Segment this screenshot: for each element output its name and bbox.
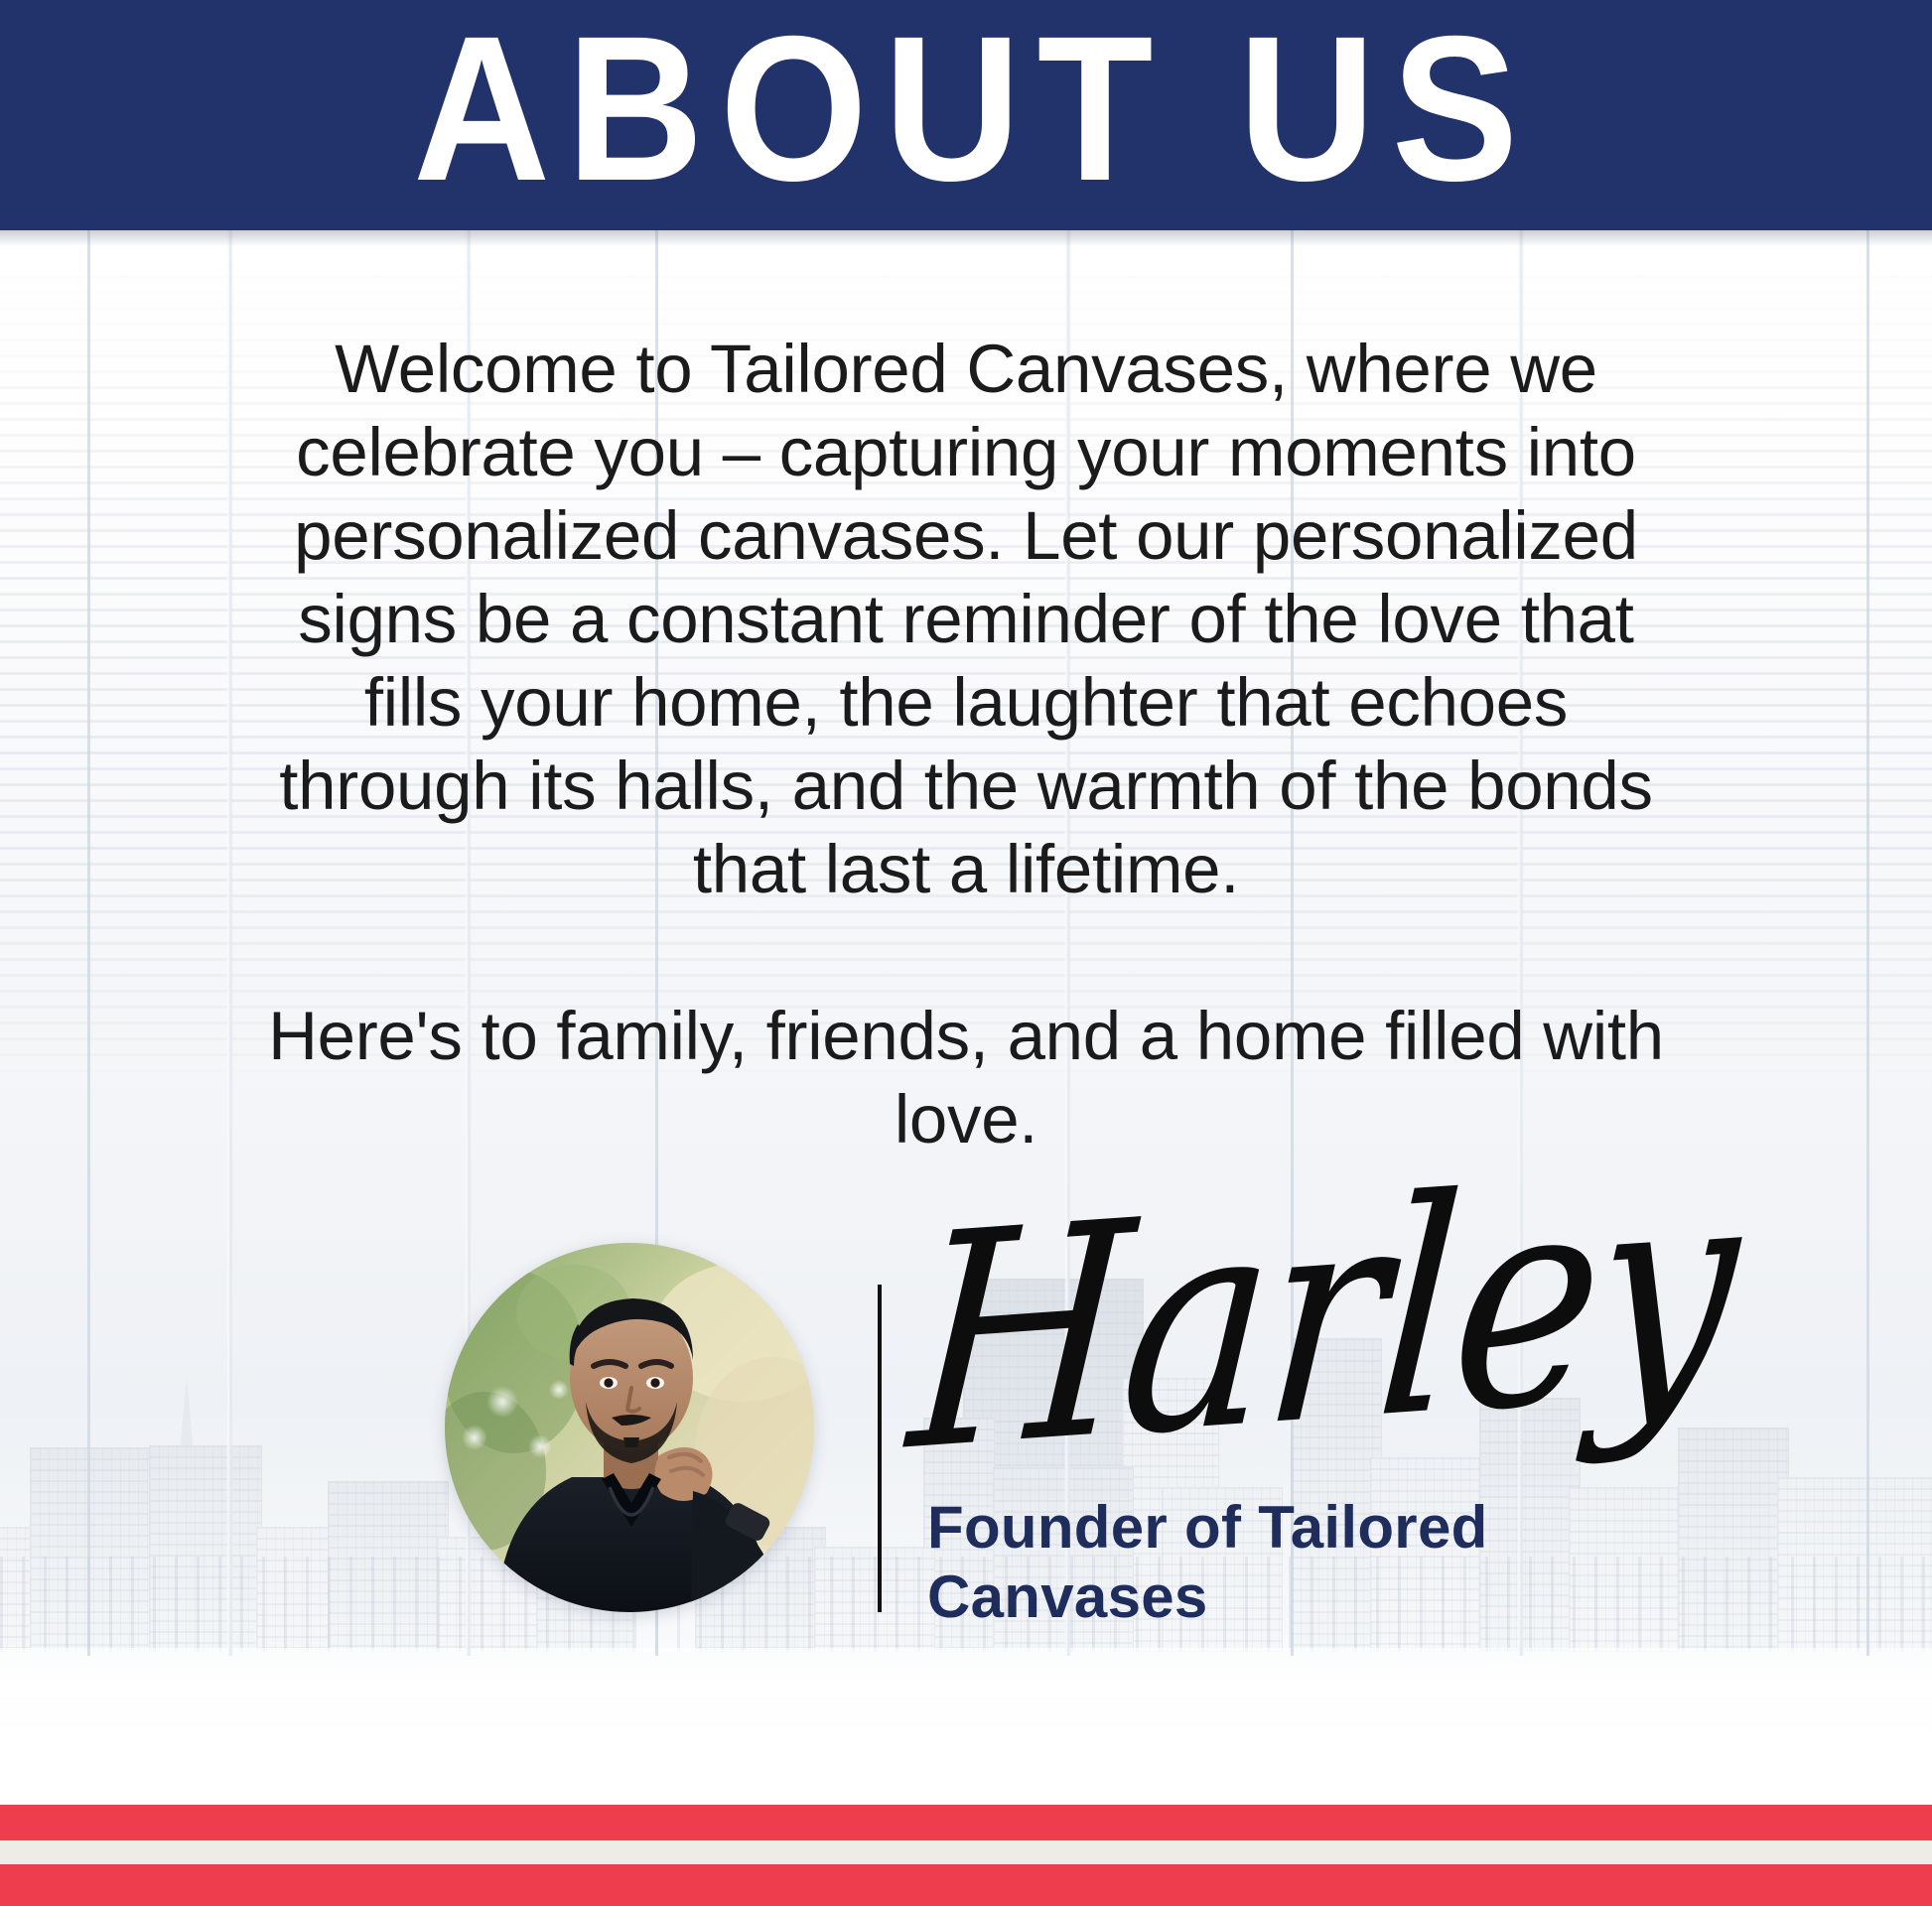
header-drop-shadow: [0, 230, 1932, 246]
page-title: ABOUT US: [397, 6, 1535, 212]
founder-role: Founder of Tailored Canvases: [927, 1493, 1523, 1632]
founder-block: Harley Founder of Tailored Canvases: [0, 1243, 1932, 1660]
about-body-copy: Welcome to Tailored Canvases, where we c…: [251, 328, 1681, 1161]
signature-divider: [878, 1285, 882, 1612]
bottom-stripe-gap: [0, 1840, 1932, 1864]
bottom-stripe-upper: [0, 1805, 1932, 1840]
header-banner: ABOUT US: [0, 0, 1932, 230]
founder-role-line-2: Canvases: [927, 1563, 1523, 1632]
about-paragraph-1: Welcome to Tailored Canvases, where we c…: [251, 328, 1681, 911]
bottom-stripe-lower: [0, 1864, 1932, 1906]
signature-block: Harley Founder of Tailored Canvases: [913, 1233, 1529, 1650]
avatar: [445, 1243, 814, 1612]
about-us-poster: ABOUT US Welcome to Tailored Canvases, w…: [0, 0, 1932, 1906]
paragraph-spacer: [251, 911, 1681, 995]
founder-role-line-1: Founder of Tailored: [927, 1493, 1523, 1563]
founder-signature: Harley: [903, 1141, 1741, 1493]
